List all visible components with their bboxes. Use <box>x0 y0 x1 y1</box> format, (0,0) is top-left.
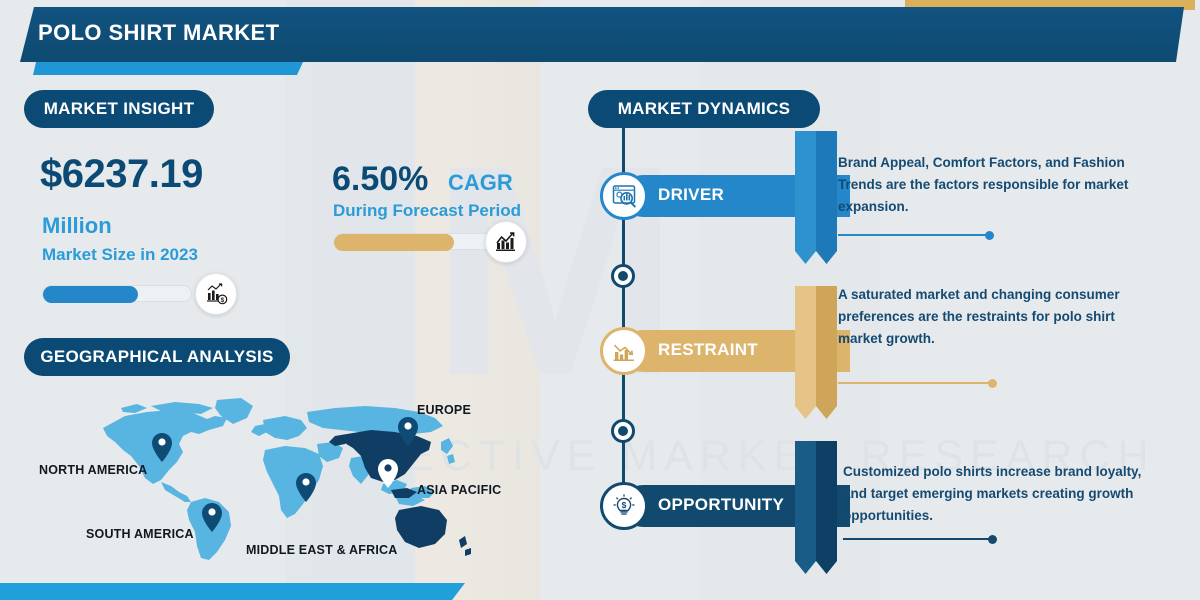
restraint-banner <box>795 286 837 419</box>
market-size-value: $6237.19 <box>40 152 203 197</box>
cagr-progress-track <box>333 233 493 250</box>
market-dynamics-pill: MARKET DYNAMICS <box>588 90 820 128</box>
region-label-middle-east-africa: MIDDLE EAST & AFRICA <box>246 543 397 557</box>
restraint-description: A saturated market and changing consumer… <box>838 284 1148 350</box>
driver-label: DRIVER <box>658 185 724 205</box>
region-label-europe: EUROPE <box>417 403 471 417</box>
driver-banner <box>795 131 837 264</box>
timeline-node-2 <box>611 419 635 443</box>
cagr-label: CAGR <box>448 170 513 196</box>
svg-text:$: $ <box>221 297 225 304</box>
region-label-asia-pacific: ASIA PACIFIC <box>417 483 501 497</box>
region-label-south-america: SOUTH AMERICA <box>86 527 194 541</box>
opportunity-underline <box>843 538 993 540</box>
header-accent-stripe <box>33 62 303 75</box>
footer-accent-stripe <box>0 583 465 600</box>
growth-chart-icon <box>485 221 527 263</box>
driver-underline <box>838 234 990 236</box>
opportunity-description: Customized polo shirts increase brand lo… <box>843 461 1153 527</box>
watermark-letter: M <box>430 120 690 420</box>
opportunity-banner <box>795 441 837 574</box>
market-size-progress-track <box>42 285 192 302</box>
cagr-subtitle: During Forecast Period <box>333 201 521 221</box>
cagr-value: 6.50% <box>332 160 428 199</box>
driver-description: Brand Appeal, Comfort Factors, and Fashi… <box>838 152 1148 218</box>
cagr-progress-fill <box>334 234 454 251</box>
market-size-subtitle: Market Size in 2023 <box>42 245 198 265</box>
magnifier-chart-icon <box>600 172 648 220</box>
market-insight-pill: MARKET INSIGHT <box>24 90 214 128</box>
geographical-analysis-pill: GEOGRAPHICAL ANALYSIS <box>24 338 290 376</box>
bar-chart-dollar-icon: $ <box>195 273 237 315</box>
market-size-unit: Million <box>42 213 112 239</box>
page-title: POLO SHIRT MARKET <box>38 20 279 46</box>
lightbulb-dollar-icon: $ <box>600 482 648 530</box>
region-label-north-america: NORTH AMERICA <box>39 463 147 477</box>
declining-bar-chart-icon <box>600 327 648 375</box>
opportunity-label: OPPORTUNITY <box>658 495 784 515</box>
market-size-progress-fill <box>43 286 138 303</box>
restraint-underline <box>838 382 993 384</box>
restraint-label: RESTRAINT <box>658 340 758 360</box>
svg-text:$: $ <box>622 500 627 510</box>
timeline-node-1 <box>611 264 635 288</box>
